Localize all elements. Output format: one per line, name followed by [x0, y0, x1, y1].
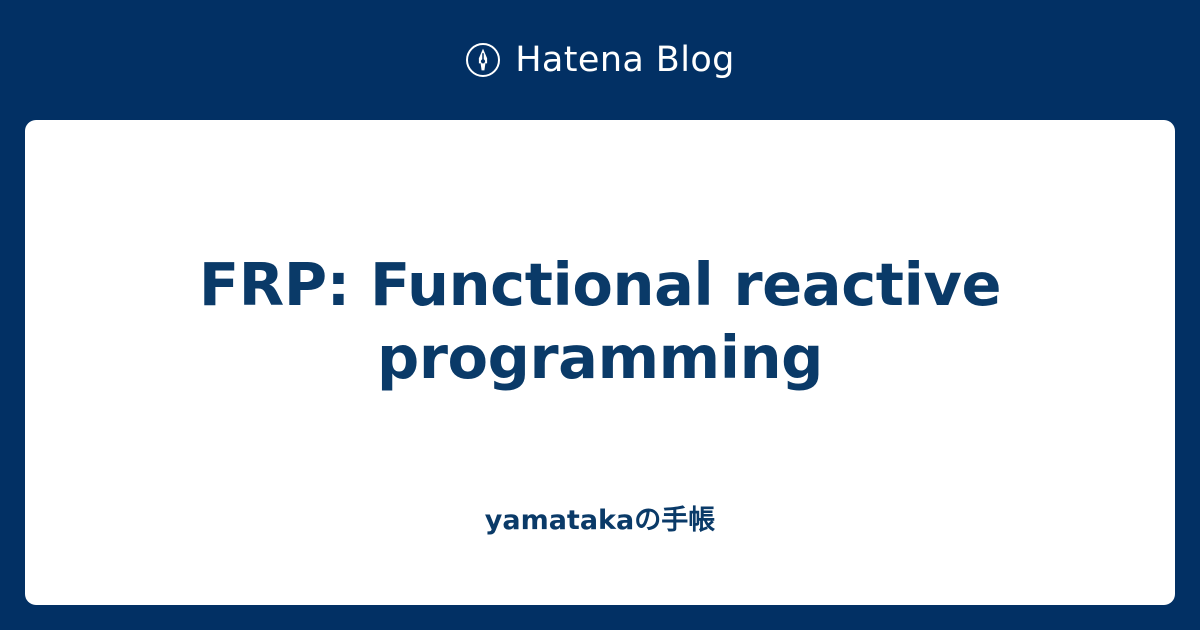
pen-nib-circle-icon: [465, 42, 501, 78]
og-image-canvas: Hatena Blog FRP: Functional reactive pro…: [0, 0, 1200, 630]
blog-name: yamatakaの手帳: [85, 504, 1115, 538]
brand-name: Hatena Blog: [515, 42, 735, 78]
brand-header: Hatena Blog: [0, 0, 1200, 120]
entry-card: FRP: Functional reactive programming yam…: [25, 120, 1175, 605]
entry-title: FRP: Functional reactive programming: [85, 248, 1115, 394]
